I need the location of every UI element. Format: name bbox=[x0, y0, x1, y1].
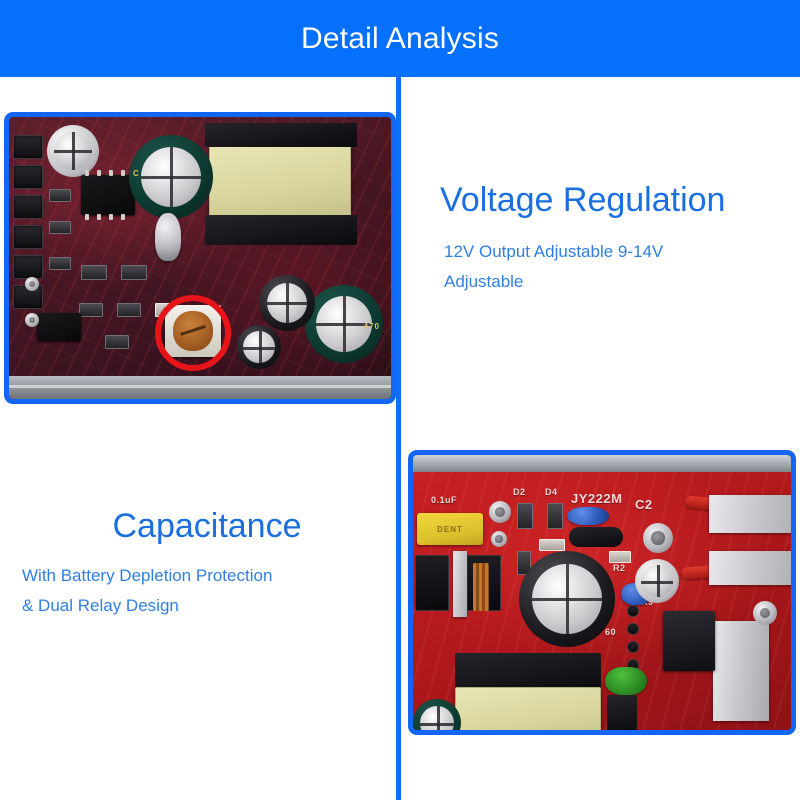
smd-resistor-extra bbox=[539, 539, 565, 551]
silkscreen-d2: D2 bbox=[513, 487, 526, 497]
silkscreen-60: 60 bbox=[605, 627, 616, 637]
relay-1 bbox=[415, 555, 449, 611]
smd-resistor-8 bbox=[105, 335, 129, 349]
capacitance-line-2: & Dual Relay Design bbox=[22, 591, 392, 621]
transformer-base-top bbox=[205, 123, 357, 147]
capacitance-heading: Capacitance bbox=[22, 508, 392, 545]
connector-pin-3 bbox=[627, 641, 639, 653]
page-title: Detail Analysis bbox=[301, 22, 499, 56]
workbench-surface bbox=[9, 376, 391, 399]
pin-header-1 bbox=[13, 135, 43, 159]
capacitance-line-1: With Battery Depletion Protection bbox=[22, 561, 392, 591]
silkscreen-r2: R2 bbox=[613, 563, 626, 573]
transformer-bobbin bbox=[455, 687, 601, 730]
heatsink-screw bbox=[753, 601, 777, 625]
medium-electrolytic-capacitor bbox=[635, 559, 679, 603]
silkscreen-0-1uf: 0.1uF bbox=[431, 495, 457, 505]
pin-header-3 bbox=[13, 195, 43, 219]
transformer-block bbox=[209, 145, 351, 217]
white-electrolytic-capacitor bbox=[47, 125, 99, 177]
black-axial-component bbox=[569, 527, 623, 547]
header-banner: Detail Analysis bbox=[0, 0, 800, 77]
mounting-via-1 bbox=[25, 277, 39, 291]
voltage-regulation-line-1: 12V Output Adjustable 9-14V bbox=[444, 237, 790, 267]
heatsink-large-2 bbox=[709, 551, 791, 585]
screw-terminal-1 bbox=[489, 501, 511, 523]
pin-header-5 bbox=[13, 255, 43, 279]
to220-transistor bbox=[663, 611, 715, 671]
silkscreen-jy222m: JY222M bbox=[571, 491, 622, 506]
transformer-base-bottom bbox=[205, 215, 357, 245]
silkscreen-c2: C2 bbox=[635, 497, 653, 512]
heatsink-large-3 bbox=[713, 621, 769, 721]
connector-pin-1 bbox=[627, 605, 639, 617]
blue-ceramic-capacitor-1 bbox=[567, 507, 609, 525]
smd-diode-d4 bbox=[547, 503, 563, 529]
pin-header-4 bbox=[13, 225, 43, 249]
voltage-regulation-text-block: Voltage Regulation 12V Output Adjustable… bbox=[440, 182, 790, 297]
bottom-black-component bbox=[607, 695, 637, 730]
smd-diode-d2 bbox=[517, 503, 533, 529]
voltage-regulation-line-2: Adjustable bbox=[444, 267, 790, 297]
screw-terminal-2 bbox=[491, 531, 507, 547]
led-indicator bbox=[155, 213, 181, 261]
black-electrolytic-capacitor-1 bbox=[259, 275, 315, 331]
pcb-photo-dark: C 470 bbox=[9, 117, 391, 399]
vertical-divider bbox=[396, 77, 401, 800]
yellow-cap-label: DENT bbox=[437, 525, 463, 534]
smd-resistor-2 bbox=[49, 221, 71, 234]
black-electrolytic-capacitor-2 bbox=[237, 325, 281, 369]
connector-pin-2 bbox=[627, 623, 639, 635]
screw-terminal-3 bbox=[643, 523, 673, 553]
soic-chip bbox=[81, 175, 135, 215]
heatsink-small bbox=[453, 551, 467, 617]
toroid-coil bbox=[473, 563, 489, 611]
pin-header-2 bbox=[13, 165, 43, 189]
red-circle-annotation bbox=[155, 295, 231, 371]
mounting-via-2 bbox=[25, 313, 39, 327]
green-electrolytic-capacitor-2: 470 bbox=[305, 285, 383, 363]
large-electrolytic-capacitor bbox=[519, 551, 615, 647]
silkscreen-d4: D4 bbox=[545, 487, 558, 497]
heatsink-large bbox=[709, 495, 791, 533]
smd-resistor-3 bbox=[49, 257, 71, 270]
smd-resistor-4 bbox=[81, 265, 107, 280]
smd-resistor-r2 bbox=[609, 551, 631, 563]
smd-resistor-5 bbox=[121, 265, 147, 280]
voltage-regulation-heading: Voltage Regulation bbox=[440, 182, 790, 219]
green-electrolytic-capacitor-1: C bbox=[129, 135, 213, 219]
pcb-photo-red: 0.1uF D2 D4 JY222M C2 R2 R9 60 C1 DENT bbox=[413, 455, 791, 730]
soic-chip-2 bbox=[37, 313, 81, 341]
detail-analysis-page: Detail Analysis bbox=[0, 0, 800, 800]
capacitance-text-block: Capacitance With Battery Depletion Prote… bbox=[22, 508, 392, 621]
green-capacitor bbox=[605, 667, 647, 695]
smd-resistor-7 bbox=[117, 303, 141, 317]
yellow-film-capacitor: DENT bbox=[417, 513, 483, 545]
photo-frame-capacitance: 0.1uF D2 D4 JY222M C2 R2 R9 60 C1 DENT bbox=[408, 450, 796, 735]
smd-resistor-6 bbox=[79, 303, 103, 317]
photo-frame-voltage-regulation: C 470 bbox=[4, 112, 396, 404]
smd-resistor-1 bbox=[49, 189, 71, 202]
